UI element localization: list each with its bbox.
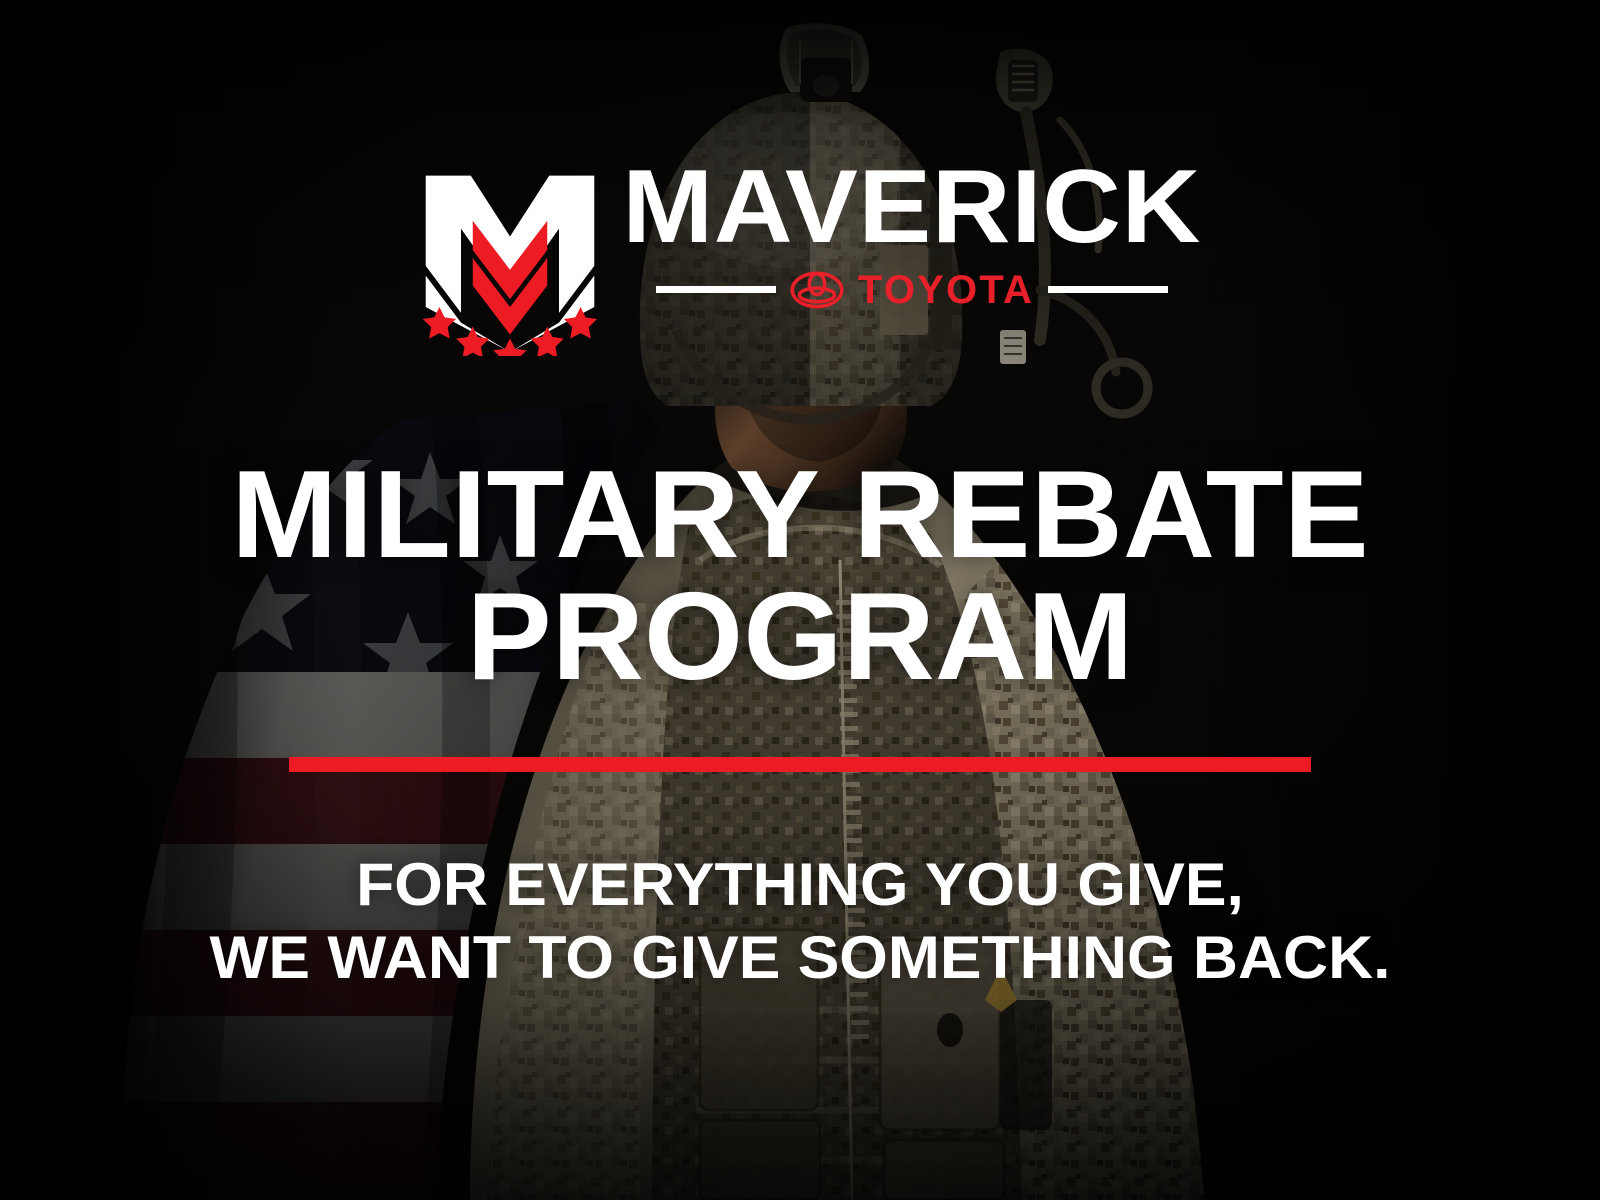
brand-logo-lockup[interactable]: MAVERICK TOYOTA xyxy=(0,160,1600,356)
subtitle: FOR EVERYTHING YOU GIVE, WE WANT TO GIVE… xyxy=(0,848,1600,994)
subtitle-line-1: FOR EVERYTHING YOU GIVE, xyxy=(0,848,1600,921)
accent-divider-wrap xyxy=(0,757,1600,772)
promo-banner: MAVERICK TOYOTA MILITARY xyxy=(0,0,1600,1200)
subtitle-line-2: WE WANT TO GIVE SOMETHING BACK. xyxy=(0,921,1600,994)
headline-line-2: PROGRAM xyxy=(0,577,1600,699)
divider-rule-left xyxy=(656,286,776,293)
toyota-emblem-icon xyxy=(790,271,844,309)
headline-line-1: MILITARY REBATE xyxy=(0,455,1600,577)
toyota-wordmark: TOYOTA xyxy=(858,270,1034,310)
divider-rule-right xyxy=(1048,286,1168,293)
brand-wordmark: MAVERICK xyxy=(623,160,1202,256)
accent-divider xyxy=(289,757,1311,772)
page-title: MILITARY REBATE PROGRAM xyxy=(0,455,1600,698)
maverick-chevron-shield-icon xyxy=(412,160,608,356)
toyota-lockup: TOYOTA xyxy=(636,270,1187,310)
